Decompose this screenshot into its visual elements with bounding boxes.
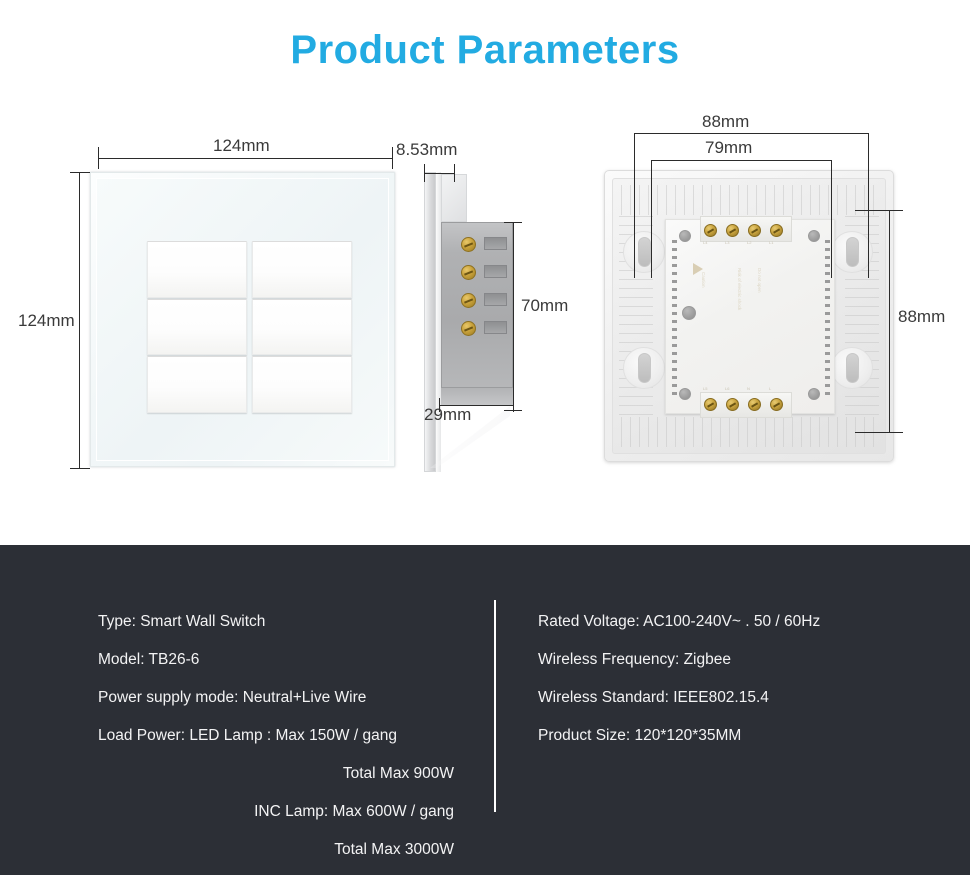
spec-wireless-standard: Wireless Standard: IEEE802.15.4 (538, 679, 938, 717)
front-width-dimension-line (98, 158, 392, 159)
mount-slot-bottom-left (638, 353, 651, 383)
front-width-tick-right (392, 147, 393, 169)
rocker-button-3[interactable] (147, 299, 247, 356)
side-body-height-tick-top (504, 222, 522, 223)
rocker-button-4[interactable] (252, 299, 352, 356)
spec-column-right: Rated Voltage: AC100-240V~ . 50 / 60Hz W… (538, 603, 938, 755)
back-height-tick-bottom (855, 432, 903, 433)
back-inner-width-dimension-label: 79mm (705, 138, 752, 158)
spec-model: Model: TB26-6 (98, 641, 458, 679)
side-depth-tick-left (439, 398, 440, 412)
side-depth-tick-right (513, 398, 514, 412)
terminal-screw-bottom-4 (770, 398, 783, 411)
spec-load-power-block: Load Power: LED Lamp : Max 150W / gang T… (98, 717, 458, 869)
module-corner-hole-tr (808, 230, 820, 242)
back-inner-width-tick-right (831, 160, 832, 278)
front-width-tick-left (98, 147, 99, 169)
page-title: Product Parameters (0, 28, 970, 73)
specifications-panel: Type: Smart Wall Switch Model: TB26-6 Po… (0, 545, 970, 875)
terminal-screw-bottom-1 (704, 398, 717, 411)
terminal-screw-top-1 (704, 224, 717, 237)
rocker-button-grid (147, 241, 352, 413)
side-terminal-screw-1 (461, 237, 476, 252)
side-depth-dimension-label: 29mm (424, 405, 471, 425)
front-width-dimension-label: 124mm (213, 136, 270, 156)
back-inner-width-tick-left (651, 160, 652, 278)
terminal-screw-top-2 (726, 224, 739, 237)
terminal-label-top-4: L1 (769, 240, 773, 245)
side-terminal-slot-2 (484, 265, 507, 278)
side-main-body (441, 222, 513, 388)
back-height-dimension-line (889, 210, 890, 432)
mount-slot-top-left (638, 237, 651, 267)
spec-column-left: Type: Smart Wall Switch Model: TB26-6 Po… (98, 603, 458, 869)
side-terminal-slot-3 (484, 293, 507, 306)
side-terminal-screw-2 (461, 265, 476, 280)
terminal-label-top-1: L4 (703, 240, 707, 245)
side-thickness-tick-left (424, 164, 425, 182)
side-glass-front (424, 172, 436, 472)
terminal-screw-bottom-2 (726, 398, 739, 411)
switch-module: L4 L3 L2 L1 L5 L6 N L Caution (665, 219, 835, 414)
mount-slot-bottom-right (846, 353, 859, 383)
back-outer-width-dimension-line (634, 133, 868, 134)
side-terminal-screw-4 (461, 321, 476, 336)
module-pin-column-left (672, 240, 677, 395)
back-height-tick-top (855, 210, 903, 211)
back-outer-width-tick-right (868, 133, 869, 278)
front-panel-inner-bezel (96, 178, 389, 461)
rocker-button-2[interactable] (252, 241, 352, 298)
spec-wireless-frequency: Wireless Frequency: Zigbee (538, 641, 938, 679)
module-corner-hole-bl (679, 388, 691, 400)
front-height-tick-bottom (70, 468, 90, 469)
spec-product-size: Product Size: 120*120*35MM (538, 717, 938, 755)
rocker-button-5[interactable] (147, 356, 247, 413)
back-rib-pattern-top (621, 185, 879, 215)
rocker-button-1[interactable] (147, 241, 247, 298)
side-body-height-dimension-label: 70mm (521, 296, 568, 316)
terminal-screw-bottom-3 (748, 398, 761, 411)
side-terminal-slot-4 (484, 321, 507, 334)
spec-type: Type: Smart Wall Switch (98, 603, 458, 641)
front-height-dimension-line (79, 172, 80, 468)
spec-load-power-inc: INC Lamp: Max 600W / gang (98, 793, 458, 831)
spec-column-divider (494, 600, 496, 812)
side-body-height-dimension-line (513, 222, 514, 410)
terminal-screw-top-4 (770, 224, 783, 237)
spec-load-power-led-total: Total Max 900W (98, 755, 458, 793)
side-depth-dimension-line (439, 405, 513, 406)
side-terminal-screw-3 (461, 293, 476, 308)
spec-rated-voltage: Rated Voltage: AC100-240V~ . 50 / 60Hz (538, 603, 938, 641)
module-led-hole (682, 306, 696, 320)
back-housing-view: L4 L3 L2 L1 L5 L6 N L Caution (604, 170, 894, 462)
spec-load-power-led: Load Power: LED Lamp : Max 150W / gang (98, 717, 458, 755)
side-thickness-dimension-label: 8.53mm (396, 140, 457, 160)
terminal-label-bottom-3: N (747, 386, 750, 391)
side-terminal-slot-1 (484, 237, 507, 250)
spec-power-supply-mode: Power supply mode: Neutral+Live Wire (98, 679, 458, 717)
terminal-label-top-2: L3 (725, 240, 729, 245)
module-print-line-1: Caution (700, 272, 706, 288)
back-height-dimension-label: 88mm (898, 307, 945, 327)
back-outer-width-dimension-label: 88mm (702, 112, 749, 132)
product-diagrams: 124mm 124mm 8 (0, 100, 970, 545)
product-parameters-page: Product Parameters 124mm 124mm (0, 0, 970, 875)
back-inner-width-dimension-line (651, 160, 831, 161)
side-thickness-dimension-line (424, 173, 454, 174)
terminal-label-bottom-2: L6 (725, 386, 729, 391)
module-pin-column-right (825, 240, 830, 395)
back-rib-pattern-bottom (621, 417, 879, 447)
terminal-screw-top-3 (748, 224, 761, 237)
terminal-label-top-3: L2 (747, 240, 751, 245)
module-corner-hole-tl (679, 230, 691, 242)
module-print-line-2: Risk of electric shock (736, 268, 742, 310)
side-profile-view (424, 168, 514, 478)
side-lower-housing (441, 388, 513, 406)
side-thickness-tick-right (454, 164, 455, 182)
terminal-label-bottom-4: L (769, 386, 771, 391)
back-outer-width-tick-left (634, 133, 635, 278)
spec-load-power-inc-total: Total Max 3000W (98, 831, 458, 869)
front-glass-panel (90, 172, 395, 467)
front-height-dimension-label: 124mm (18, 311, 75, 331)
mount-slot-top-right (846, 237, 859, 267)
back-housing-rim: L4 L3 L2 L1 L5 L6 N L Caution (612, 178, 886, 454)
front-height-tick-top (70, 172, 90, 173)
terminal-label-bottom-1: L5 (703, 386, 707, 391)
module-print-line-3: Do not open (756, 268, 762, 293)
module-corner-hole-br (808, 388, 820, 400)
rocker-button-6[interactable] (252, 356, 352, 413)
